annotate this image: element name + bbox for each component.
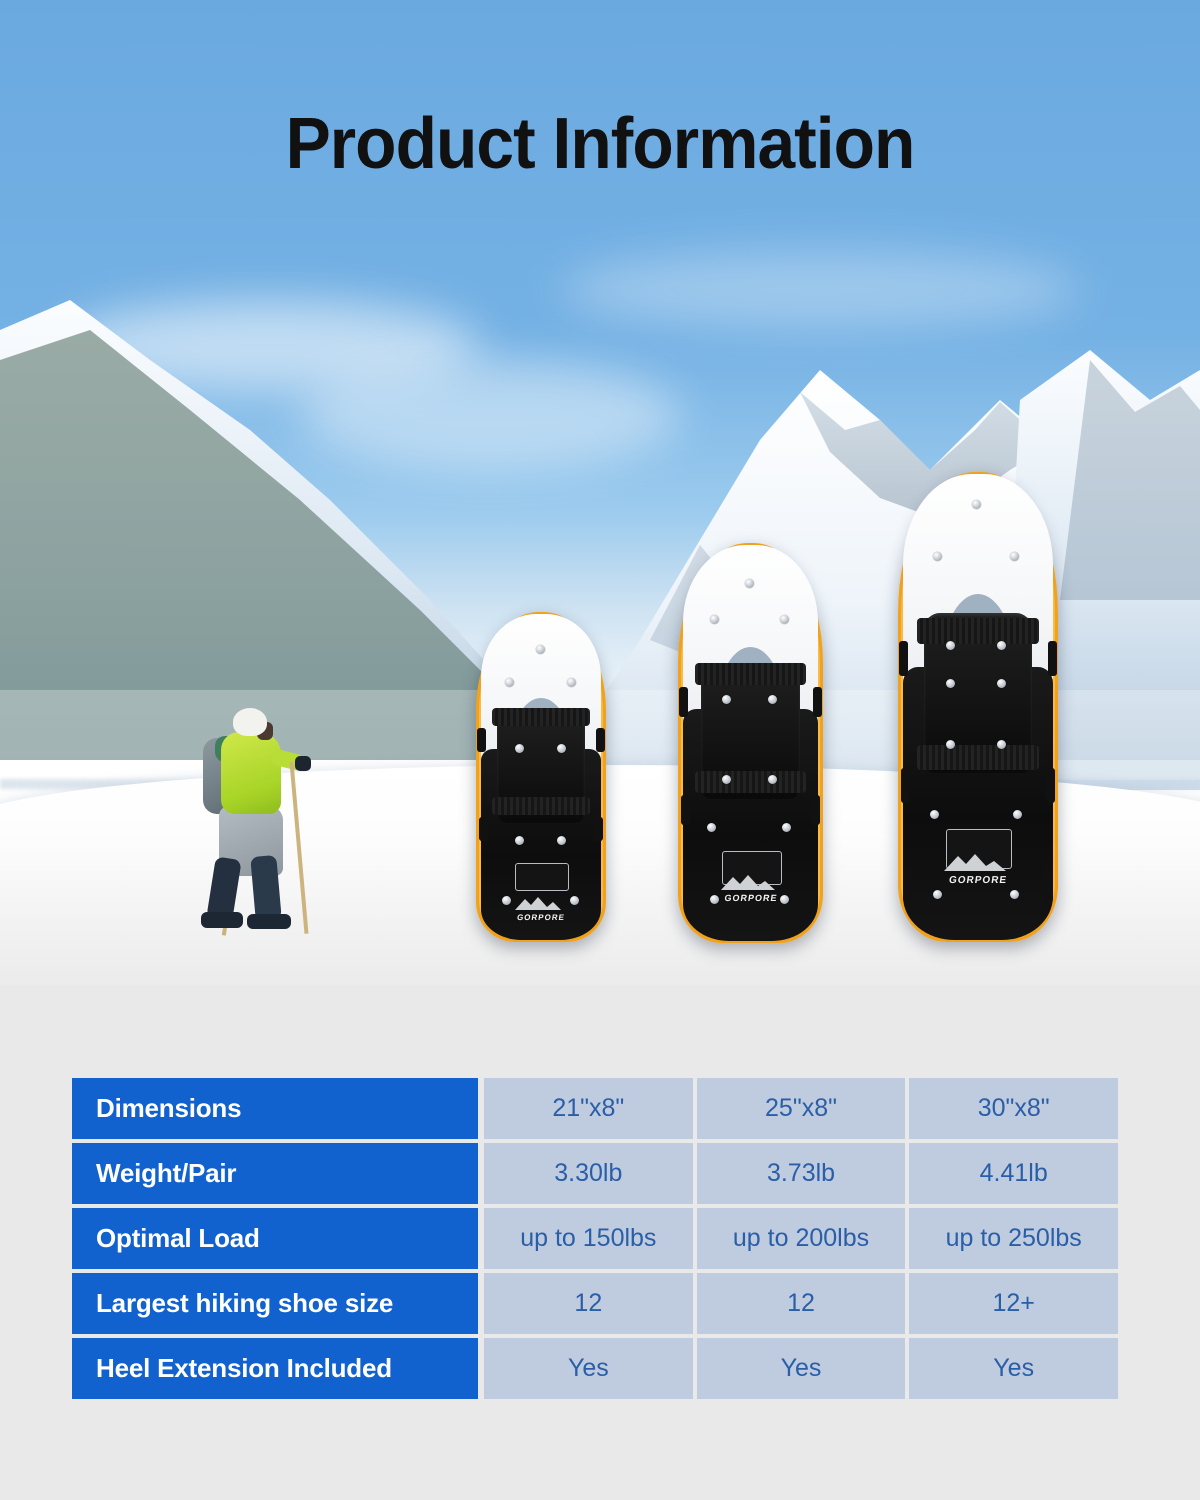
mountain-peaks-icon [513, 895, 569, 913]
spec-values: Yes Yes Yes [484, 1338, 1118, 1399]
snowshoe-frame-wrap [596, 728, 605, 753]
spec-label-weight-pair: Weight/Pair [72, 1143, 478, 1204]
table-row: Dimensions 21"x8" 25"x8" 30"x8" [72, 1078, 1118, 1139]
snowshoe-rivet [536, 645, 545, 654]
snowshoe-rivet [946, 679, 955, 688]
spec-value-cell: 12 [484, 1273, 693, 1334]
snowshoe-rivet [502, 896, 511, 905]
spec-value-cell: up to 150lbs [484, 1208, 693, 1269]
snowshoe-frame-wrap [479, 817, 488, 842]
snowshoe-frame-wrap [811, 795, 820, 825]
hero-photo: GORPORE [0, 0, 1200, 985]
spec-value-cell: 3.73lb [697, 1143, 906, 1204]
snowshoe-rivet [707, 823, 716, 832]
spec-label-dimensions: Dimensions [72, 1078, 478, 1139]
spec-value-cell: Yes [909, 1338, 1118, 1399]
mountain-peaks-icon [719, 873, 783, 893]
brand-logo: GORPORE [513, 895, 569, 922]
snowshoe-heel-plate [515, 863, 569, 891]
snowshoe-rivet [505, 678, 514, 687]
spec-values: 3.30lb 3.73lb 4.41lb [484, 1143, 1118, 1204]
product-information-page: GORPORE [0, 0, 1200, 1500]
skier-boot-front [247, 914, 291, 929]
snowshoe-rivet [515, 744, 524, 753]
spec-table: Dimensions 21"x8" 25"x8" 30"x8" Weight/P… [72, 1078, 1118, 1399]
snowshoe-product-small: GORPORE [476, 612, 606, 942]
snowshoe-rivet [972, 500, 981, 509]
snowshoer-figure [185, 700, 305, 950]
snowshoe-strap [695, 663, 805, 685]
snowshoe-frame-wrap [903, 867, 912, 902]
snowshoe-rivet [997, 679, 1006, 688]
snowshoe-strap [492, 708, 591, 726]
snowshoe-rivet [710, 615, 719, 624]
spec-value-cell: 21"x8" [484, 1078, 693, 1139]
spec-value-cell: Yes [484, 1338, 693, 1399]
table-row: Largest hiking shoe size 12 12 12+ [72, 1273, 1118, 1334]
skier-jacket [221, 732, 281, 814]
mountain-peaks-icon [942, 852, 1014, 875]
snowshoe-rivet [780, 615, 789, 624]
snowshoe-rivet [946, 740, 955, 749]
skier-boot-back [201, 912, 243, 928]
spec-value-cell: 12+ [909, 1273, 1118, 1334]
snowshoe-frame-wrap [477, 728, 486, 753]
spec-value-cell: up to 250lbs [909, 1208, 1118, 1269]
snowshoe-rivet [1010, 552, 1019, 561]
table-row: Optimal Load up to 150lbs up to 200lbs u… [72, 1208, 1118, 1269]
snowshoe-frame-wrap [1046, 768, 1055, 803]
spec-label-optimal-load: Optimal Load [72, 1208, 478, 1269]
snowshoe-strap [695, 771, 805, 793]
snowshoe-rivet [768, 775, 777, 784]
brand-name: GORPORE [941, 875, 1015, 886]
snowshoe-product-medium: GORPORE [678, 543, 823, 943]
spec-label-largest-hiking-shoe-size: Largest hiking shoe size [72, 1273, 478, 1334]
page-title: Product Information [36, 108, 1164, 180]
spec-value-cell: Yes [697, 1338, 906, 1399]
table-row: Heel Extension Included Yes Yes Yes [72, 1338, 1118, 1399]
brand-name: GORPORE [512, 913, 569, 922]
snowshoe-rivet [570, 896, 579, 905]
spec-value-cell: 30"x8" [909, 1078, 1118, 1139]
snowshoe-rivet [567, 678, 576, 687]
spec-value-cell: 4.41lb [909, 1143, 1118, 1204]
snowshoe-frame-wrap [681, 795, 690, 825]
brand-name: GORPORE [718, 893, 783, 903]
snowshoe-product-large: GORPORE [898, 472, 1058, 942]
snowshoe-frame-wrap [1044, 867, 1053, 902]
snowshoe-frame-wrap [901, 768, 910, 803]
snowshoe-frame-wrap [899, 641, 908, 676]
table-row: Weight/Pair 3.30lb 3.73lb 4.41lb [72, 1143, 1118, 1204]
spec-value-cell: up to 200lbs [697, 1208, 906, 1269]
snowshoe-rivet [722, 695, 731, 704]
skier-glove [295, 756, 311, 771]
spec-value-cell: 12 [697, 1273, 906, 1334]
brand-logo: GORPORE [942, 852, 1014, 886]
spec-value-cell: 3.30lb [484, 1143, 693, 1204]
skier-leg-front [250, 855, 281, 921]
snowshoe-frame-wrap [1048, 641, 1057, 676]
brand-logo: GORPORE [719, 873, 783, 903]
snowshoe-rivet [557, 836, 566, 845]
snowshoe-rivet [722, 775, 731, 784]
snowshoe-strap [917, 618, 1039, 644]
spec-values: up to 150lbs up to 200lbs up to 250lbs [484, 1208, 1118, 1269]
snowshoe-strap [492, 797, 591, 815]
skier-helmet [233, 708, 267, 736]
snowshoe-strap [917, 745, 1039, 771]
snowshoe-rivet [557, 744, 566, 753]
spec-values: 21"x8" 25"x8" 30"x8" [484, 1078, 1118, 1139]
spec-label-heel-extension-included: Heel Extension Included [72, 1338, 478, 1399]
snowshoe-frame-wrap [679, 687, 688, 717]
snowshoe-rivet [745, 579, 754, 588]
snowshoe-frame-wrap [594, 817, 603, 842]
snowshoe-rivet [768, 695, 777, 704]
spec-values: 12 12 12+ [484, 1273, 1118, 1334]
snowshoe-frame-wrap [813, 687, 822, 717]
spec-value-cell: 25"x8" [697, 1078, 906, 1139]
